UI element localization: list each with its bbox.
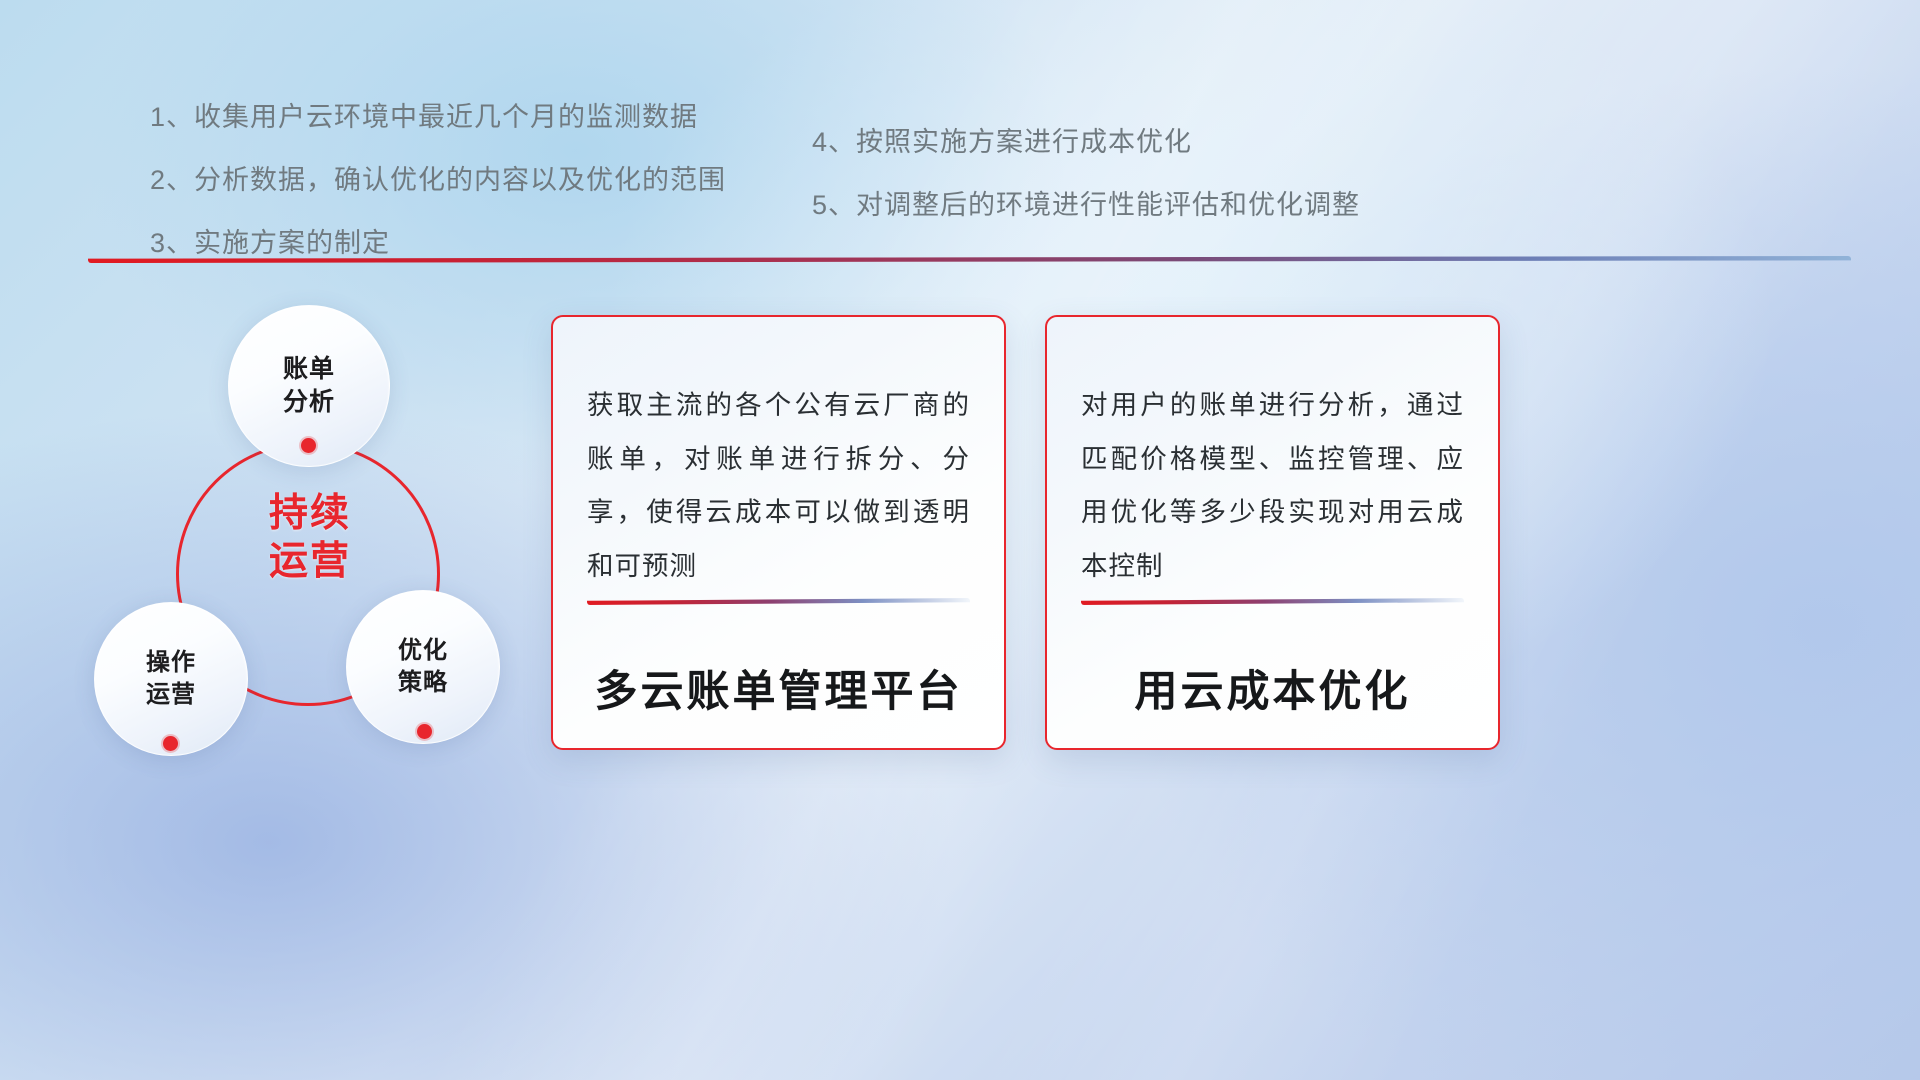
venn-diagram: 账单 分析 操作 运营 优化 策略 持续 运营 [80, 290, 550, 790]
node-dot-top [301, 438, 316, 453]
card-cost-optimization[interactable]: 对用户的账单进行分析，通过匹配价格模型、监控管理、应用优化等多少段实现对用云成本… [1045, 315, 1500, 750]
slide-canvas: 1、收集用户云环境中最近几个月的监测数据 2、分析数据，确认优化的内容以及优化的… [0, 0, 1920, 1080]
steps-list-right: 4、按照实施方案进行成本优化 5、对调整后的环境进行性能评估和优化调整 [812, 129, 1360, 255]
node-dot-bottom-right [417, 724, 432, 739]
card-2-body: 对用户的账单进行分析，通过匹配价格模型、监控管理、应用优化等多少段实现对用云成本… [1081, 379, 1464, 593]
card-2-title: 用云成本优化 [1047, 657, 1498, 719]
bubble-optimization-strategy[interactable]: 优化 策略 [346, 590, 500, 744]
step-item-4: 4、按照实施方案进行成本优化 [812, 129, 1360, 156]
venn-center-label: 持续 运营 [230, 490, 390, 585]
card-1-divider [587, 598, 970, 605]
step-item-2: 2、分析数据，确认优化的内容以及优化的范围 [150, 167, 726, 194]
steps-list-left: 1、收集用户云环境中最近几个月的监测数据 2、分析数据，确认优化的内容以及优化的… [150, 104, 726, 293]
bubble-billing-analysis-label: 账单 分析 [283, 353, 335, 419]
card-1-body: 获取主流的各个公有云厂商的账单，对账单进行拆分、分享，使得云成本可以做到透明和可… [587, 379, 970, 593]
card-1-title: 多云账单管理平台 [553, 657, 1004, 719]
bubble-operations-label: 操作 运营 [146, 647, 196, 710]
step-item-3: 3、实施方案的制定 [150, 230, 726, 257]
step-item-5: 5、对调整后的环境进行性能评估和优化调整 [812, 192, 1360, 219]
card-2-divider [1081, 598, 1464, 605]
bubble-optimization-strategy-label: 优化 策略 [398, 635, 448, 698]
card-multicloud-billing[interactable]: 获取主流的各个公有云厂商的账单，对账单进行拆分、分享，使得云成本可以做到透明和可… [551, 315, 1006, 750]
node-dot-bottom-left [163, 736, 178, 751]
step-item-1: 1、收集用户云环境中最近几个月的监测数据 [150, 104, 726, 131]
bubble-operations[interactable]: 操作 运营 [94, 602, 248, 756]
